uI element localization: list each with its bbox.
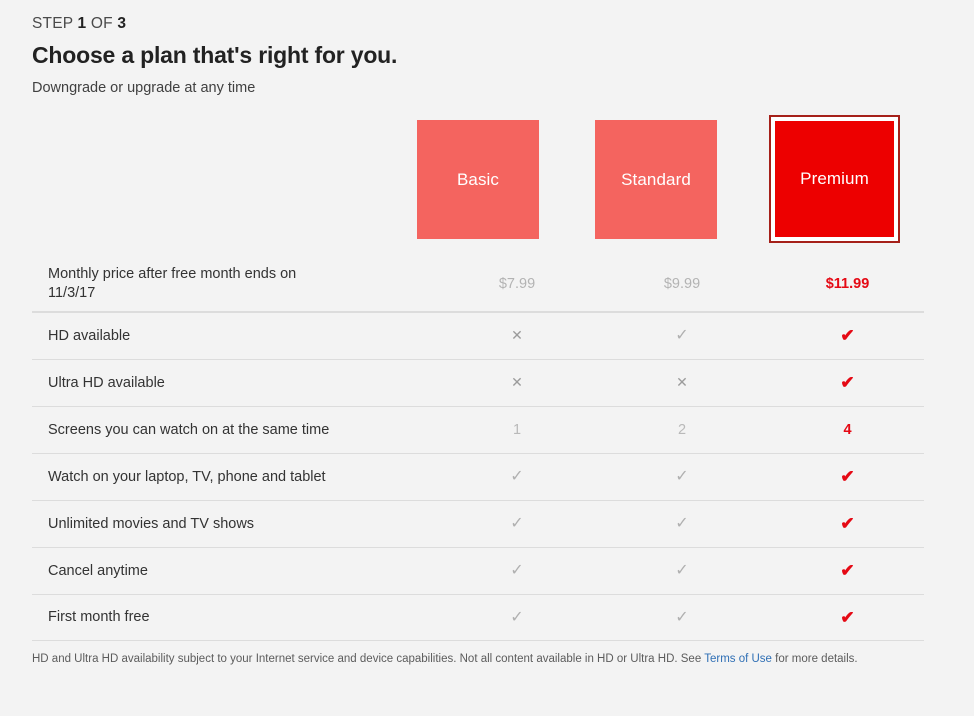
plan-card-row: Basic Standard Premium xyxy=(0,115,974,246)
plan-card-premium[interactable]: Premium xyxy=(769,115,900,243)
price-row-label-line1: Monthly price after free month ends on xyxy=(48,266,296,282)
feature-cell-basic: ✓ xyxy=(441,516,593,532)
feature-label: Unlimited movies and TV shows xyxy=(32,515,441,534)
plan-card-basic[interactable]: Basic xyxy=(417,120,539,239)
feature-cell-standard: ✓ xyxy=(593,328,771,344)
step-total-number: 3 xyxy=(117,15,126,32)
feature-label: Screens you can watch on at the same tim… xyxy=(32,421,441,440)
check-icon: ✓ xyxy=(675,610,688,626)
cross-icon: ✕ xyxy=(676,375,688,389)
terms-of-use-link[interactable]: Terms of Use xyxy=(704,653,772,665)
feature-cell-basic: 1 xyxy=(441,422,593,438)
feature-cell-standard: ✓ xyxy=(593,610,771,626)
check-icon: ✔ xyxy=(840,468,854,485)
screen-count-value: 1 xyxy=(513,422,521,438)
plan-card-standard[interactable]: Standard xyxy=(595,120,717,239)
check-icon: ✓ xyxy=(675,328,688,344)
plan-card-premium-label: Premium xyxy=(800,169,869,189)
disclaimer-text-after: for more details. xyxy=(772,653,858,665)
cross-icon: ✕ xyxy=(511,328,523,342)
price-cell-basic: $7.99 xyxy=(441,276,593,292)
feature-cell-basic: ✕ xyxy=(441,375,593,391)
page-subtitle: Downgrade or upgrade at any time xyxy=(32,79,942,98)
check-icon: ✔ xyxy=(840,515,854,532)
check-icon: ✔ xyxy=(840,374,854,391)
check-icon: ✓ xyxy=(510,563,523,579)
table-row: Ultra HD available✕✕✔ xyxy=(32,359,924,406)
step-indicator: STEP 1 OF 3 xyxy=(32,14,942,34)
feature-label: Watch on your laptop, TV, phone and tabl… xyxy=(32,468,441,487)
feature-label: Ultra HD available xyxy=(32,374,441,393)
price-cell-premium: $11.99 xyxy=(771,276,924,292)
screen-count-value: 4 xyxy=(843,422,851,438)
feature-label: Cancel anytime xyxy=(32,562,441,581)
check-icon: ✓ xyxy=(675,516,688,532)
feature-cell-standard: ✓ xyxy=(593,563,771,579)
plan-card-standard-label: Standard xyxy=(621,170,691,190)
check-icon: ✓ xyxy=(675,469,688,485)
check-icon: ✓ xyxy=(510,469,523,485)
feature-cell-standard: ✓ xyxy=(593,469,771,485)
step-current-number: 1 xyxy=(78,15,87,32)
feature-cell-basic: ✕ xyxy=(441,328,593,344)
page-title: Choose a plan that's right for you. xyxy=(32,41,942,69)
feature-cell-basic: ✓ xyxy=(441,610,593,626)
feature-cell-premium: ✔ xyxy=(771,468,924,486)
price-basic: $7.99 xyxy=(499,276,535,292)
disclaimer-text: HD and Ultra HD availability subject to … xyxy=(32,652,912,667)
feature-cell-premium: ✔ xyxy=(771,327,924,345)
feature-cell-premium: ✔ xyxy=(771,609,924,627)
feature-cell-standard: 2 xyxy=(593,422,771,438)
page-header: STEP 1 OF 3 Choose a plan that's right f… xyxy=(0,0,974,98)
feature-rows: HD available✕✓✔Ultra HD available✕✕✔Scre… xyxy=(32,312,924,641)
plan-card-basic-label: Basic xyxy=(457,170,499,190)
step-of-label: OF xyxy=(91,15,113,32)
table-row-price: Monthly price after free month ends on 1… xyxy=(32,256,924,312)
check-icon: ✓ xyxy=(675,563,688,579)
table-row: Unlimited movies and TV shows✓✓✔ xyxy=(32,500,924,547)
disclaimer-text-before: HD and Ultra HD availability subject to … xyxy=(32,653,704,665)
price-premium: $11.99 xyxy=(826,276,870,292)
plan-card-premium-fill: Premium xyxy=(775,121,894,237)
plan-comparison-table: Monthly price after free month ends on 1… xyxy=(32,256,924,641)
feature-cell-premium: ✔ xyxy=(771,562,924,580)
feature-cell-premium: ✔ xyxy=(771,374,924,392)
table-row: HD available✕✓✔ xyxy=(32,312,924,359)
check-icon: ✔ xyxy=(840,562,854,579)
feature-label: First month free xyxy=(32,608,441,627)
cross-icon: ✕ xyxy=(511,375,523,389)
check-icon: ✔ xyxy=(840,327,854,344)
feature-cell-basic: ✓ xyxy=(441,469,593,485)
table-row: First month free✓✓✔ xyxy=(32,594,924,641)
price-row-label: Monthly price after free month ends on 1… xyxy=(32,265,441,303)
check-icon: ✓ xyxy=(510,610,523,626)
price-row-label-line2: 11/3/17 xyxy=(48,285,95,301)
feature-cell-standard: ✓ xyxy=(593,516,771,532)
price-standard: $9.99 xyxy=(664,276,700,292)
check-icon: ✔ xyxy=(840,609,854,626)
feature-cell-basic: ✓ xyxy=(441,563,593,579)
choose-plan-page: STEP 1 OF 3 Choose a plan that's right f… xyxy=(0,0,974,716)
table-row: Cancel anytime✓✓✔ xyxy=(32,547,924,594)
feature-cell-premium: 4 xyxy=(771,422,924,438)
price-cell-standard: $9.99 xyxy=(593,276,771,292)
screen-count-value: 2 xyxy=(678,422,686,438)
table-row: Watch on your laptop, TV, phone and tabl… xyxy=(32,453,924,500)
feature-label: HD available xyxy=(32,327,441,346)
feature-cell-premium: ✔ xyxy=(771,515,924,533)
table-row: Screens you can watch on at the same tim… xyxy=(32,406,924,453)
step-prefix-label: STEP xyxy=(32,15,73,32)
check-icon: ✓ xyxy=(510,516,523,532)
feature-cell-standard: ✕ xyxy=(593,375,771,391)
